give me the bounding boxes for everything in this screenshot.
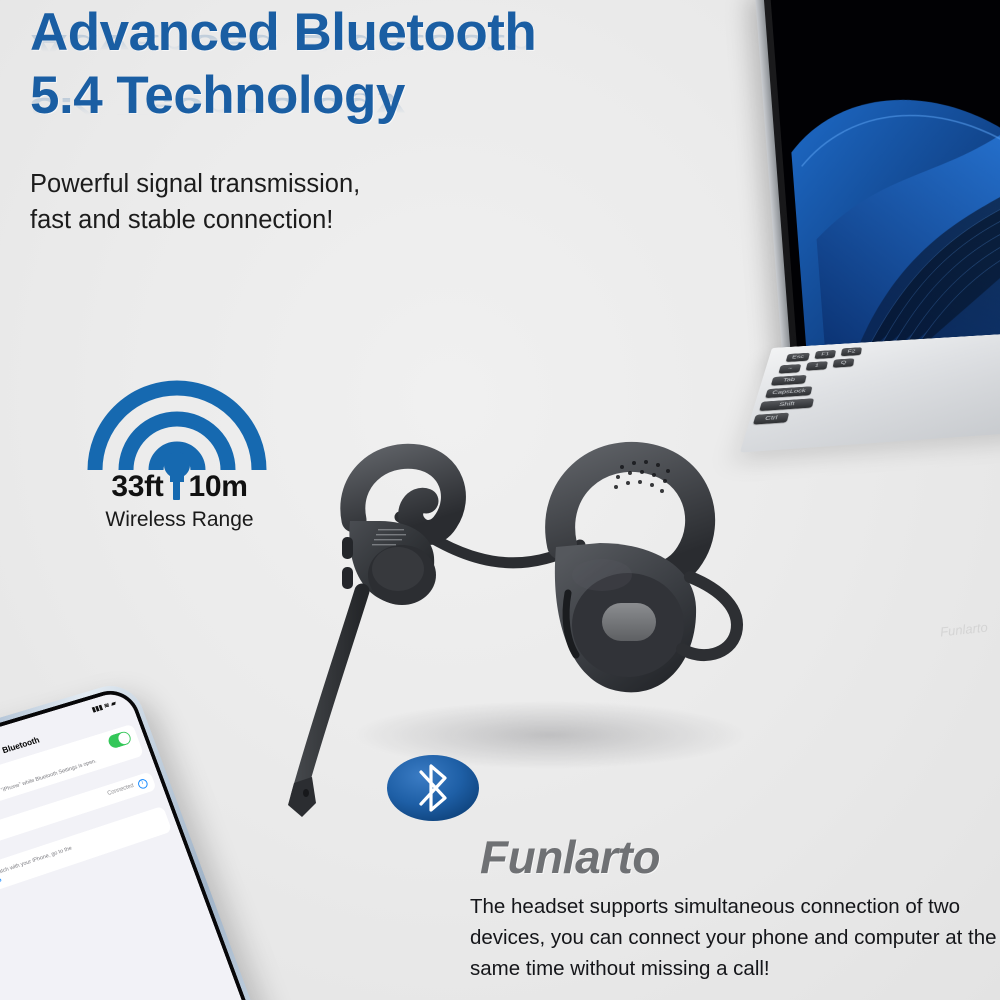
headline-line-1: Advanced Bluetooth [30, 6, 710, 59]
iphone-device: 9:38 ▮▮▮ ≋ ▰ Settings Bluetooth Blu [0, 678, 266, 1000]
bluetooth-logo-icon [385, 752, 481, 824]
mic-port [303, 789, 309, 797]
laptop-lid [754, 0, 1000, 380]
open-ear-headset-illustration [250, 425, 770, 845]
laptop-screen [771, 0, 1000, 358]
laptop-keyboard-base: Esc F1 F2 ~ 1 Q Tab CapsLock Shift Ctrl [740, 331, 1000, 453]
key-ctrl[interactable]: Ctrl [753, 413, 789, 425]
key-1[interactable]: 1 [806, 361, 828, 370]
boom-microphone [288, 591, 362, 817]
left-button-down [342, 567, 353, 589]
brand-name: Funlarto [480, 830, 660, 884]
key-esc[interactable]: Esc [786, 353, 810, 362]
control-pad [602, 603, 656, 641]
range-separator [173, 474, 180, 500]
wifi-icon: ≋ [103, 702, 111, 710]
battery-icon: ▰ [110, 700, 117, 708]
laptop-wallpaper-swirl [771, 0, 1000, 358]
laptop-device: Esc F1 F2 ~ 1 Q Tab CapsLock Shift Ctrl [762, 0, 1000, 500]
brand-description: The headset supports simultaneous connec… [470, 892, 1000, 984]
left-earpiece [342, 456, 453, 605]
wifi-signal-icon [82, 362, 272, 482]
subtitle-block: Powerful signal transmission, fast and s… [30, 166, 650, 238]
subtitle-line-2: fast and stable connection! [30, 202, 650, 238]
marketing-banner: Esc F1 F2 ~ 1 Q Tab CapsLock Shift Ctrl … [0, 0, 1000, 1000]
key-capslock[interactable]: CapsLock [765, 386, 812, 398]
phone-screen: 9:38 ▮▮▮ ≋ ▰ Settings Bluetooth Blu [0, 689, 255, 1000]
headline-line-2: 5.4 Technology [30, 69, 710, 122]
key-shift[interactable]: Shift [759, 398, 814, 411]
key-tab[interactable]: Tab [771, 375, 807, 386]
subtitle-line-1: Powerful signal transmission, [30, 166, 650, 202]
mic-tip [288, 777, 316, 817]
device-status: Connected [107, 783, 135, 797]
headphone-product-image [250, 425, 770, 845]
range-meters: 10m [189, 470, 248, 504]
right-earpiece [555, 457, 737, 692]
key-q[interactable]: Q [833, 358, 855, 367]
range-feet: 33ft [111, 470, 163, 504]
key-f2[interactable]: F2 [841, 347, 862, 356]
device-status-wrap: Connected i [107, 778, 149, 800]
phone-bezel: 9:38 ▮▮▮ ≋ ▰ Settings Bluetooth Blu [0, 684, 260, 1000]
phone-frame: 9:38 ▮▮▮ ≋ ▰ Settings Bluetooth Blu [0, 678, 266, 1000]
headline-block: Advanced Bluetooth Advanced Bluetooth 5.… [30, 6, 710, 132]
left-button-up [342, 537, 353, 559]
watermark-text: Funlarto [939, 620, 988, 640]
info-icon[interactable]: i [137, 778, 149, 790]
key-tilde[interactable]: ~ [778, 364, 801, 374]
key-f1[interactable]: F1 [814, 350, 836, 359]
